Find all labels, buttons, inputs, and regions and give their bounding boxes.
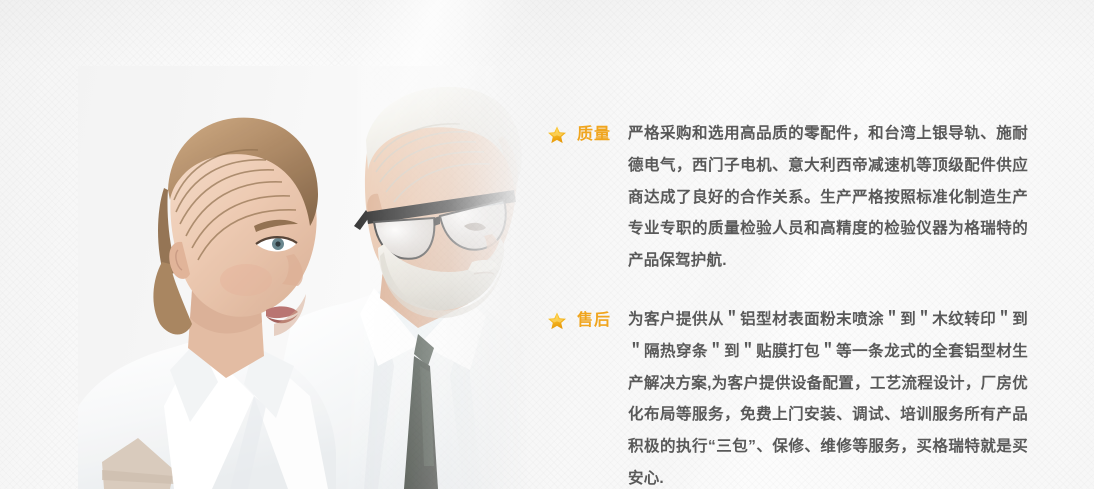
star-icon xyxy=(546,124,568,146)
feature-block-after-sales: 售后 为客户提供从＂铝型材表面粉末喷涂＂到＂木纹转印＂到＂隔热穿条＂到＂贴膜打包… xyxy=(540,304,1094,489)
star-icon xyxy=(546,310,568,332)
feature-label-after-sales: 售后 xyxy=(540,304,628,337)
feature-body: 严格采购和选用高品质的零配件，和台湾上银导轨、施耐德电气，西门子电机、意大利西帝… xyxy=(628,118,1028,277)
promo-banner: 质量 严格采购和选用高品质的零配件，和台湾上银导轨、施耐德电气，西门子电机、意大… xyxy=(0,0,1094,489)
feature-list: 质量 严格采购和选用高品质的零配件，和台湾上银导轨、施耐德电气，西门子电机、意大… xyxy=(540,118,1094,489)
feature-label-quality: 质量 xyxy=(540,118,628,151)
feature-title: 售后 xyxy=(577,310,611,332)
lab-staff-photo xyxy=(78,66,530,489)
feature-title: 质量 xyxy=(577,124,611,146)
feature-block-quality: 质量 严格采购和选用高品质的零配件，和台湾上银导轨、施耐德电气，西门子电机、意大… xyxy=(540,118,1094,277)
feature-body: 为客户提供从＂铝型材表面粉末喷涂＂到＂木纹转印＂到＂隔热穿条＂到＂贴膜打包＂等一… xyxy=(628,304,1028,489)
